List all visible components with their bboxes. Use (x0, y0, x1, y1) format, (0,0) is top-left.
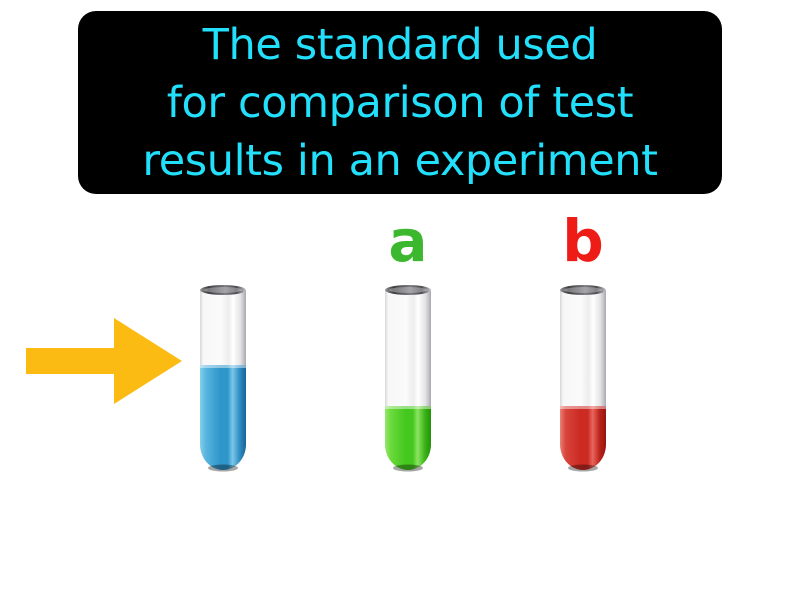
test-tube-label-a: a (360, 206, 456, 276)
definition-banner: The standard used for comparison of test… (78, 11, 722, 194)
test-tube-glass-b (559, 284, 607, 472)
test-tube-glass-control (199, 284, 247, 472)
test-tube-label-b: b (535, 206, 631, 276)
definition-line-3: results in an experiment (142, 132, 657, 190)
test-tube-b: b (535, 206, 631, 486)
test-tube-control (175, 206, 271, 486)
test-tube-glass-a (384, 284, 432, 472)
right-arrow-icon (26, 318, 182, 404)
definition-line-1: The standard used (203, 16, 598, 74)
definition-line-2: for comparison of test (167, 74, 633, 132)
test-tube-label-control (175, 206, 271, 276)
test-tube-a: a (360, 206, 456, 486)
